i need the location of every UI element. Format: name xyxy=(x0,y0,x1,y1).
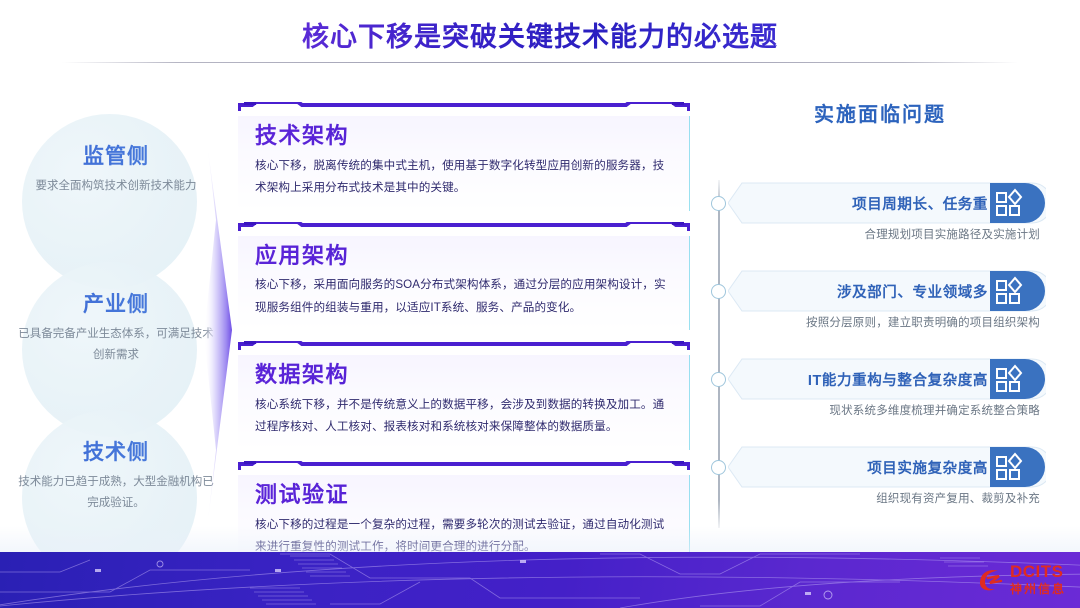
company-logo: DCITS 神州信息 xyxy=(977,560,1066,598)
slide-root: 核心下移是突破关键技术能力的必选题 监管侧 要求全面构筑技术创新技术能力 产业侧… xyxy=(0,0,1080,608)
card-body: 技术架构 核心下移，脱离传统的集中式主机，使用基于数字化转型应用创新的服务器，技… xyxy=(238,116,690,211)
card-description: 核心下移，采用面向服务的SOA分布式架构体系，通过分层的应用架构设计，实现服务组… xyxy=(255,274,675,319)
card-description: 核心系统下移，并不是传统意义上的数据平移，会涉及到数据的转换及加工。通过程序核对… xyxy=(255,394,675,439)
issue-label: 项目实施复杂度高 xyxy=(728,446,1046,488)
left-item-desc: 技术能力已趋于成熟，大型金融机构已完成验证。 xyxy=(0,472,232,515)
card-top-border xyxy=(238,102,690,111)
left-item-industry: 产业侧 已具备完备产业生态体系，可满足技术创新需求 xyxy=(0,288,232,367)
issue-label: 项目周期长、任务重 xyxy=(728,182,1046,224)
left-item-heading: 产业侧 xyxy=(0,288,232,318)
card-description: 核心下移，脱离传统的集中式主机，使用基于数字化转型应用创新的服务器，技术架构上采… xyxy=(255,155,675,200)
left-item-technology: 技术侧 技术能力已趋于成熟，大型金融机构已完成验证。 xyxy=(0,436,232,515)
title-area: 核心下移是突破关键技术能力的必选题 xyxy=(0,8,1080,60)
dcits-swoosh-icon xyxy=(977,565,1005,593)
issue-label: 涉及部门、专业领域多 xyxy=(728,270,1046,312)
circuit-pattern xyxy=(0,552,1080,608)
issue-sub: 现状系统多维度梳理并确定系统整合策略 xyxy=(728,402,1046,418)
right-column-title: 实施面临问题 xyxy=(700,98,1060,127)
card-heading: 测试验证 xyxy=(255,481,675,509)
left-column: 监管侧 要求全面构筑技术创新技术能力 产业侧 已具备完备产业生态体系，可满足技术… xyxy=(0,92,232,542)
card-heading: 数据架构 xyxy=(255,361,675,389)
timeline-dot xyxy=(711,460,726,475)
card-top-border xyxy=(238,341,690,350)
logo-text: DCITS 神州信息 xyxy=(1010,563,1066,595)
issue-label: IT能力重构与整合复杂度高 xyxy=(728,358,1046,400)
left-item-desc: 已具备完备产业生态体系，可满足技术创新需求 xyxy=(0,324,232,367)
timeline-dot xyxy=(711,196,726,211)
left-item-heading: 技术侧 xyxy=(0,436,232,466)
issue-sub: 按照分层原则，建立职责明确的项目组织架构 xyxy=(728,314,1046,330)
left-item-desc: 要求全面构筑技术创新技术能力 xyxy=(0,176,232,197)
card-app-architecture: 应用架构 核心下移，采用面向服务的SOA分布式架构体系，通过分层的应用架构设计，… xyxy=(238,218,690,331)
timeline-axis xyxy=(718,180,720,528)
logo-cn: 神州信息 xyxy=(1010,583,1066,595)
timeline-dot xyxy=(711,284,726,299)
card-heading: 应用架构 xyxy=(255,242,675,270)
timeline-dot xyxy=(711,372,726,387)
left-item-regulation: 监管侧 要求全面构筑技术创新技术能力 xyxy=(0,140,232,197)
issue-sub: 合理规划项目实施路径及实施计划 xyxy=(728,226,1046,242)
card-data-architecture: 数据架构 核心系统下移，并不是传统意义上的数据平移，会涉及到数据的转换及加工。通… xyxy=(238,337,690,450)
page-title: 核心下移是突破关键技术能力的必选题 xyxy=(302,15,778,54)
logo-en: DCITS xyxy=(1010,563,1066,580)
card-tech-architecture: 技术架构 核心下移，脱离传统的集中式主机，使用基于数字化转型应用创新的服务器，技… xyxy=(238,98,690,211)
title-divider xyxy=(62,62,1018,63)
card-body: 数据架构 核心系统下移，并不是传统意义上的数据平移，会涉及到数据的转换及加工。通… xyxy=(238,355,690,450)
right-column: 实施面临问题 项目周期长、任务重 合理规划项目实施路径及实施计划 xyxy=(700,98,1060,538)
banner-fade xyxy=(0,526,1080,552)
left-item-heading: 监管侧 xyxy=(0,140,232,170)
issue-sub: 组织现有资产复用、裁剪及补充 xyxy=(728,490,1046,506)
footer-banner: DCITS 神州信息 xyxy=(0,552,1080,608)
card-heading: 技术架构 xyxy=(255,122,675,150)
architecture-card-list: 技术架构 核心下移，脱离传统的集中式主机，使用基于数字化转型应用创新的服务器，技… xyxy=(238,98,690,577)
card-top-border xyxy=(238,461,690,470)
card-body: 应用架构 核心下移，采用面向服务的SOA分布式架构体系，通过分层的应用架构设计，… xyxy=(238,236,690,331)
card-top-border xyxy=(238,222,690,231)
